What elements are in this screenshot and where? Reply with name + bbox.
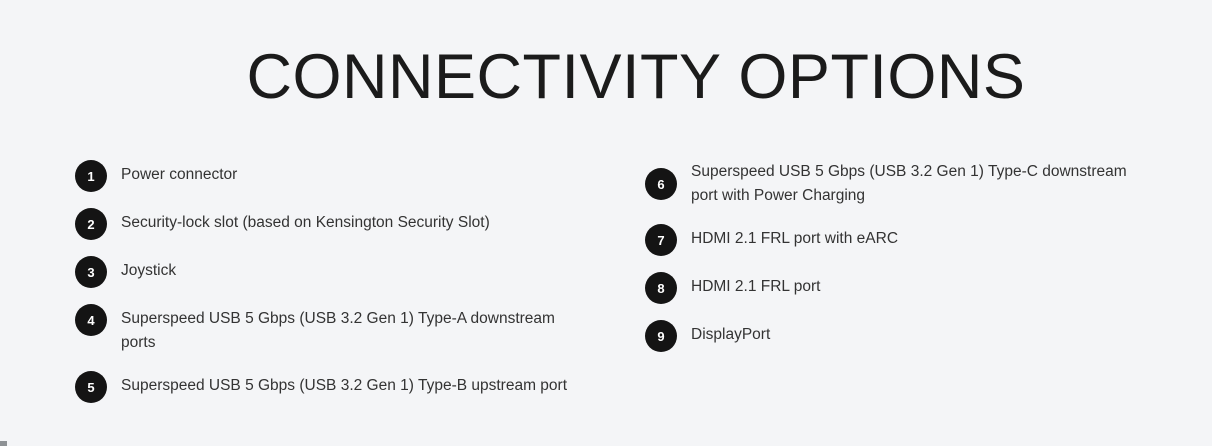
legend-item-label: HDMI 2.1 FRL port with eARC <box>691 224 898 251</box>
legend-number-badge: 7 <box>645 224 677 256</box>
legend-item-label: Superspeed USB 5 Gbps (USB 3.2 Gen 1) Ty… <box>121 304 591 355</box>
list-item: 8 HDMI 2.1 FRL port <box>645 272 1165 304</box>
legend-number-badge: 2 <box>75 208 107 240</box>
list-item: 5 Superspeed USB 5 Gbps (USB 3.2 Gen 1) … <box>75 371 635 403</box>
list-item: 4 Superspeed USB 5 Gbps (USB 3.2 Gen 1) … <box>75 304 635 355</box>
list-item: 1 Power connector <box>75 160 635 192</box>
list-item: 3 Joystick <box>75 256 635 288</box>
corner-artifact <box>0 441 7 446</box>
legend-number-badge: 9 <box>645 320 677 352</box>
legend-columns: 1 Power connector 2 Security-lock slot (… <box>0 160 1212 410</box>
list-item: 9 DisplayPort <box>645 320 1165 352</box>
legend-column-right: 6 Superspeed USB 5 Gbps (USB 3.2 Gen 1) … <box>645 160 1165 368</box>
page-title: CONNECTIVITY OPTIONS <box>0 46 1212 109</box>
legend-number-badge: 5 <box>75 371 107 403</box>
legend-number-badge: 8 <box>645 272 677 304</box>
legend-item-label: HDMI 2.1 FRL port <box>691 272 821 299</box>
legend-item-label: Superspeed USB 5 Gbps (USB 3.2 Gen 1) Ty… <box>121 371 567 398</box>
list-item: 7 HDMI 2.1 FRL port with eARC <box>645 224 1165 256</box>
legend-column-left: 1 Power connector 2 Security-lock slot (… <box>75 160 635 419</box>
list-item: 2 Security-lock slot (based on Kensingto… <box>75 208 635 240</box>
legend-number-badge: 1 <box>75 160 107 192</box>
legend-number-badge: 4 <box>75 304 107 336</box>
legend-number-badge: 3 <box>75 256 107 288</box>
legend-number-badge: 6 <box>645 168 677 200</box>
list-item: 6 Superspeed USB 5 Gbps (USB 3.2 Gen 1) … <box>645 160 1165 208</box>
legend-item-label: Joystick <box>121 256 176 283</box>
legend-item-label: Security-lock slot (based on Kensington … <box>121 208 490 235</box>
legend-item-label: DisplayPort <box>691 320 770 347</box>
legend-item-label: Superspeed USB 5 Gbps (USB 3.2 Gen 1) Ty… <box>691 160 1151 208</box>
legend-item-label: Power connector <box>121 160 237 187</box>
connectivity-options-page: CONNECTIVITY OPTIONS 1 Power connector 2… <box>0 0 1212 446</box>
